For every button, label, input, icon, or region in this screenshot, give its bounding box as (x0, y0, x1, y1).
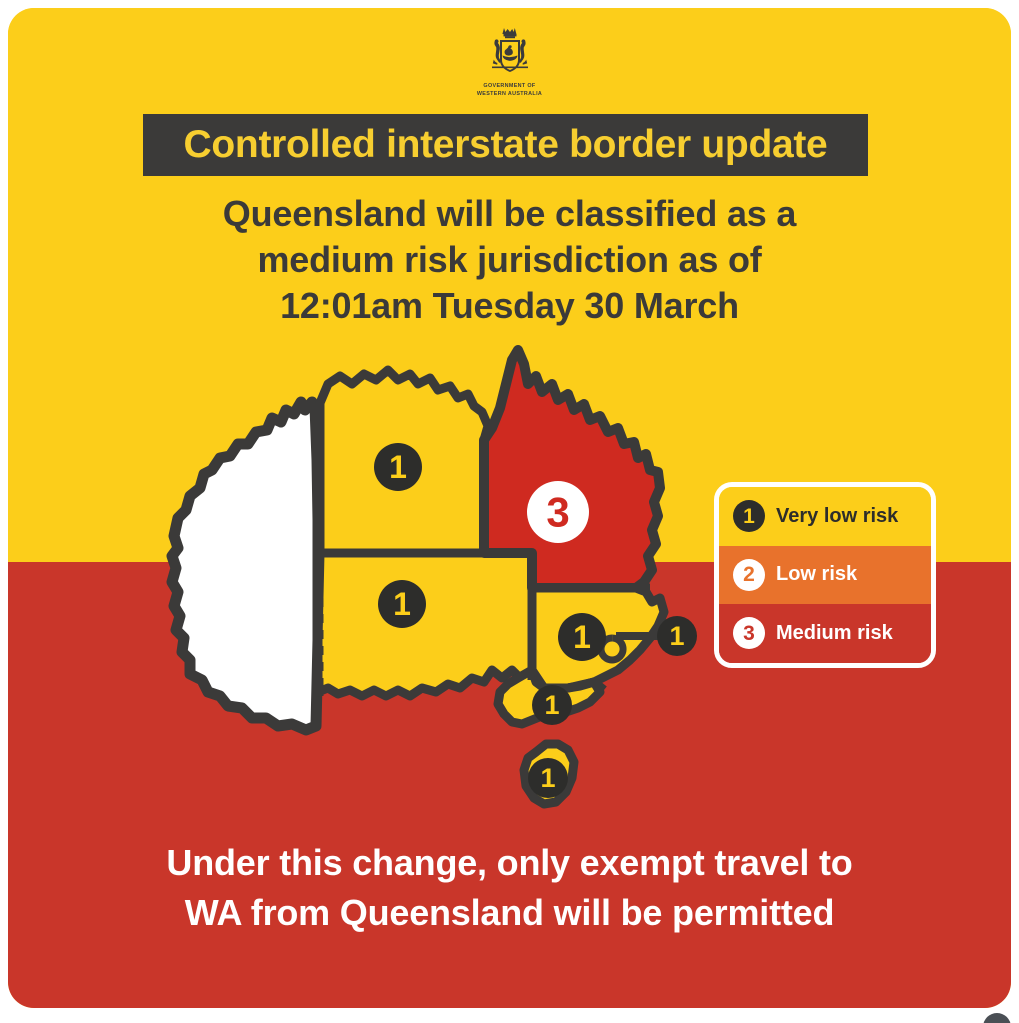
map-badge-sa-number: 1 (393, 586, 411, 622)
map-badge-vic-number: 1 (544, 690, 559, 720)
footer-line-1: Under this change, only exempt travel to (68, 838, 951, 888)
map-badge-tas-number: 1 (540, 763, 555, 793)
australia-map: 1 3 1 1 (160, 340, 705, 820)
info-card: GOVERNMENT OF WESTERN AUSTRALIA Controll… (8, 8, 1011, 1008)
title-banner: Controlled interstate border update (143, 114, 868, 176)
map-badge-nsw: 1 (558, 613, 606, 661)
page-title: Controlled interstate border update (184, 123, 828, 167)
crest-caption-line1: GOVERNMENT OF (450, 83, 570, 90)
legend-label-3: Medium risk (776, 622, 893, 645)
poster-root: GOVERNMENT OF WESTERN AUSTRALIA Controll… (0, 0, 1019, 1023)
legend-row-low-risk: 2 Low risk (719, 546, 931, 605)
map-badge-act-number: 1 (669, 621, 684, 651)
crest-caption-line2: WESTERN AUSTRALIA (450, 91, 570, 98)
legend-badge-2: 2 (733, 559, 765, 591)
map-badge-qld-number: 3 (546, 489, 569, 536)
map-state-sa (318, 553, 532, 696)
wa-government-crest-icon (478, 24, 542, 82)
legend-row-very-low-risk: 1 Very low risk (719, 487, 931, 546)
legend-label-2: Low risk (776, 563, 857, 586)
bottom-edge-nub (983, 1013, 1011, 1023)
subtitle-text: Queensland will be classified as a mediu… (68, 191, 951, 329)
footer-text: Under this change, only exempt travel to… (68, 838, 951, 938)
risk-legend: 1 Very low risk 2 Low risk 3 Medium risk (714, 482, 936, 668)
map-badge-sa: 1 (378, 580, 426, 628)
map-badge-nt-number: 1 (389, 449, 407, 485)
australia-map-icon: 1 3 1 1 (160, 340, 705, 820)
legend-badge-1: 1 (733, 500, 765, 532)
map-state-wa (172, 402, 318, 730)
map-badge-nt: 1 (374, 443, 422, 491)
subtitle-line-2: medium risk jurisdiction as of (68, 237, 951, 283)
map-badge-nsw-number: 1 (573, 619, 591, 655)
map-badge-qld: 3 (527, 481, 589, 543)
footer-line-2: WA from Queensland will be permitted (68, 888, 951, 938)
subtitle-line-1: Queensland will be classified as a (68, 191, 951, 237)
legend-badge-3: 3 (733, 617, 765, 649)
wa-government-crest: GOVERNMENT OF WESTERN AUSTRALIA (450, 24, 570, 102)
subtitle-line-3: 12:01am Tuesday 30 March (68, 283, 951, 329)
map-badge-act: 1 (657, 616, 697, 656)
map-badge-tas: 1 (528, 758, 568, 798)
legend-row-medium-risk: 3 Medium risk (719, 604, 931, 663)
map-badge-vic: 1 (532, 685, 572, 725)
legend-label-1: Very low risk (776, 505, 898, 528)
